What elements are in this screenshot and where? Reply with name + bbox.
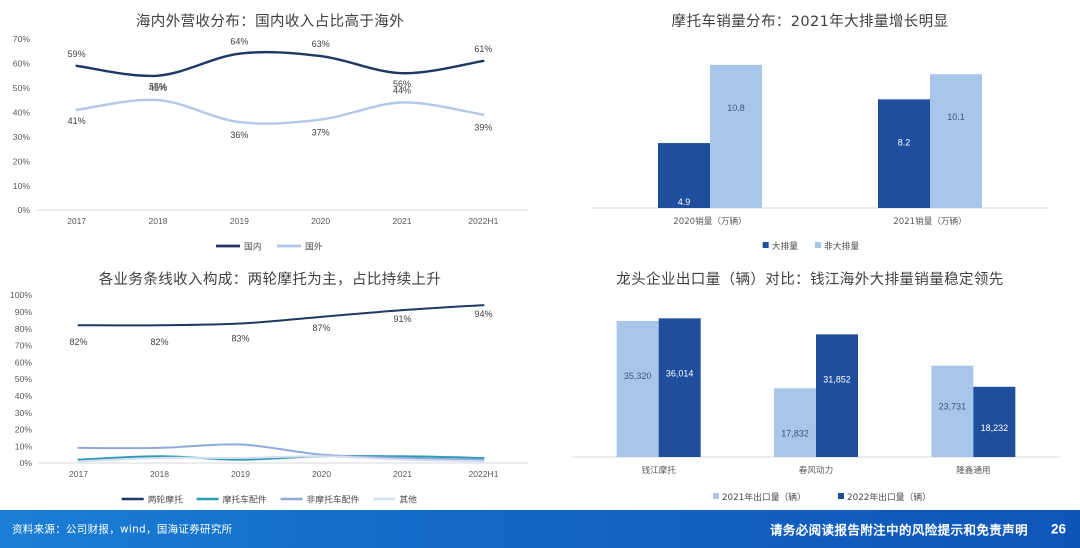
legend-label-1: 2022年出口量（辆） xyxy=(847,491,931,503)
y-axis-tick: 0% xyxy=(20,458,33,468)
y-axis-tick: 50% xyxy=(15,374,33,384)
chart-canvas: 0%10%20%30%40%50%60%70%59%55%64%63%56%61… xyxy=(0,31,540,256)
x-axis-tick: 2017 xyxy=(67,216,86,226)
data-label: 87% xyxy=(312,323,330,333)
x-axis-tick: 春风动力 xyxy=(799,464,833,476)
data-label: 91% xyxy=(393,314,411,324)
bar-0-0 xyxy=(617,321,659,457)
chart-motorcycle-sales-distribution: 摩托车销量分布：2021年大排量增长明显 4.910.82020销量（万辆）8.… xyxy=(540,0,1080,262)
bar-1-0 xyxy=(774,388,816,457)
slide: 海内外营收分布：国内收入占比高于海外 0%10%20%30%40%50%60%7… xyxy=(0,0,1080,548)
legend-label-1: 国外 xyxy=(305,240,323,252)
bar-value-label: 23,731 xyxy=(939,402,967,412)
data-label: 64% xyxy=(230,37,248,47)
x-axis-tick: 2021销量（万辆） xyxy=(893,215,966,227)
y-axis-tick: 40% xyxy=(13,107,31,117)
legend-swatch-0 xyxy=(763,242,769,248)
chart-leading-enterprise-exports: 龙头企业出口量（辆）对比：钱江海外大排量销量稳定领先 35,32036,014钱… xyxy=(540,262,1080,510)
x-axis-tick: 隆鑫通用 xyxy=(956,464,990,476)
chart-title: 龙头企业出口量（辆）对比：钱江海外大排量销量稳定领先 xyxy=(540,262,1080,289)
x-axis-tick: 2020 xyxy=(311,216,330,226)
y-axis-tick: 10% xyxy=(15,441,33,451)
data-label: 82% xyxy=(69,337,87,347)
y-axis-tick: 60% xyxy=(13,59,31,69)
x-axis-tick: 钱江摩托 xyxy=(641,464,676,476)
data-label: 61% xyxy=(474,44,492,54)
x-axis-tick: 2019 xyxy=(231,469,250,479)
x-axis-tick: 2021 xyxy=(393,469,412,479)
data-label: 39% xyxy=(474,123,492,133)
bar-value-label: 18,232 xyxy=(981,423,1009,433)
y-axis-tick: 20% xyxy=(15,425,33,435)
y-axis-tick: 70% xyxy=(15,341,33,351)
bar-1-0 xyxy=(878,99,930,208)
bar-0-1 xyxy=(659,318,701,457)
y-axis-tick: 30% xyxy=(13,132,31,142)
data-label: 63% xyxy=(312,39,330,49)
y-axis-tick: 30% xyxy=(15,408,33,418)
data-label: 82% xyxy=(150,337,168,347)
data-label: 45% xyxy=(149,83,167,93)
x-axis-tick: 2019 xyxy=(230,216,249,226)
x-axis-tick: 2022H1 xyxy=(468,216,498,226)
bar-0-1 xyxy=(710,65,762,208)
footer-bar: 资料来源：公司财报，wind，国海证券研究所 请务必阅读报告附注中的风险提示和免… xyxy=(0,510,1080,548)
x-axis-tick: 2021 xyxy=(392,216,411,226)
legend-label-0: 两轮摩托 xyxy=(148,493,183,505)
y-axis-tick: 80% xyxy=(15,324,33,334)
legend-label-1: 非大排量 xyxy=(824,240,859,252)
bar-value-label: 35,320 xyxy=(624,371,652,381)
legend-label-0: 国内 xyxy=(244,240,262,252)
page-number: 26 xyxy=(1051,522,1066,537)
bar-1-1 xyxy=(930,74,982,208)
x-axis-tick: 2018 xyxy=(150,469,169,479)
y-axis-tick: 20% xyxy=(13,156,31,166)
data-label: 44% xyxy=(393,86,411,96)
series-line-1 xyxy=(77,100,484,124)
legend-swatch-1 xyxy=(815,242,821,248)
y-axis-tick: 0% xyxy=(18,205,31,215)
data-label: 36% xyxy=(230,130,248,140)
legend-swatch-1 xyxy=(838,493,844,499)
bar-value-label: 8.2 xyxy=(898,137,911,147)
data-label: 59% xyxy=(68,49,86,59)
series-line-0 xyxy=(77,52,484,76)
x-axis-tick: 2018 xyxy=(148,216,167,226)
bar-value-label: 17,832 xyxy=(781,428,809,438)
chart-revenue-domestic-overseas: 海内外营收分布：国内收入占比高于海外 0%10%20%30%40%50%60%7… xyxy=(0,0,540,262)
y-axis-tick: 70% xyxy=(13,34,31,44)
y-axis-tick: 50% xyxy=(13,83,31,93)
y-axis-tick: 40% xyxy=(15,391,33,401)
x-axis-tick: 2022H1 xyxy=(468,469,498,479)
chart-canvas: 0%10%20%30%40%50%60%70%80%90%100%82%82%8… xyxy=(0,289,540,507)
bar-value-label: 10.1 xyxy=(947,112,965,122)
y-axis-tick: 60% xyxy=(15,357,33,367)
data-label: 94% xyxy=(474,309,492,319)
bar-value-label: 10.8 xyxy=(727,103,745,113)
footer-disclaimer: 请务必阅读报告附注中的风险提示和免责声明 xyxy=(770,520,1028,539)
data-label: 83% xyxy=(231,334,249,344)
legend-label-1: 摩托车配件 xyxy=(223,493,267,505)
y-axis-tick: 90% xyxy=(15,307,33,317)
chart-title: 海内外营收分布：国内收入占比高于海外 xyxy=(0,0,540,31)
data-label: 41% xyxy=(68,116,86,126)
x-axis-tick: 2017 xyxy=(69,469,88,479)
bar-value-label: 4.9 xyxy=(678,197,691,207)
series-line-0 xyxy=(79,305,484,325)
chart-canvas: 4.910.82020销量（万辆）8.210.12021销量（万辆）大排量非大排… xyxy=(540,31,1080,256)
bar-value-label: 31,852 xyxy=(823,374,851,384)
y-axis-tick: 100% xyxy=(10,290,32,300)
footer-source: 资料来源：公司财报，wind，国海证券研究所 xyxy=(12,522,232,537)
bar-1-1 xyxy=(816,334,858,457)
y-axis-tick: 10% xyxy=(13,181,31,191)
chart-canvas: 35,32036,014钱江摩托17,83231,852春风动力23,73118… xyxy=(540,289,1080,507)
legend-swatch-0 xyxy=(713,493,719,499)
chart-title: 各业务条线收入构成：两轮摩托为主，占比持续上升 xyxy=(0,262,540,289)
chart-title: 摩托车销量分布：2021年大排量增长明显 xyxy=(540,0,1080,31)
x-axis-tick: 2020销量（万辆） xyxy=(673,215,746,227)
legend-label-0: 大排量 xyxy=(772,240,799,252)
legend-label-3: 其他 xyxy=(399,493,417,505)
x-axis-tick: 2020 xyxy=(312,469,331,479)
data-label: 37% xyxy=(312,128,330,138)
bar-value-label: 36,014 xyxy=(666,368,694,378)
legend-label-2: 非摩托车配件 xyxy=(306,493,359,505)
chart-business-line-revenue-mix: 各业务条线收入构成：两轮摩托为主，占比持续上升 0%10%20%30%40%50… xyxy=(0,262,540,510)
legend-label-0: 2021年出口量（辆） xyxy=(722,491,806,503)
